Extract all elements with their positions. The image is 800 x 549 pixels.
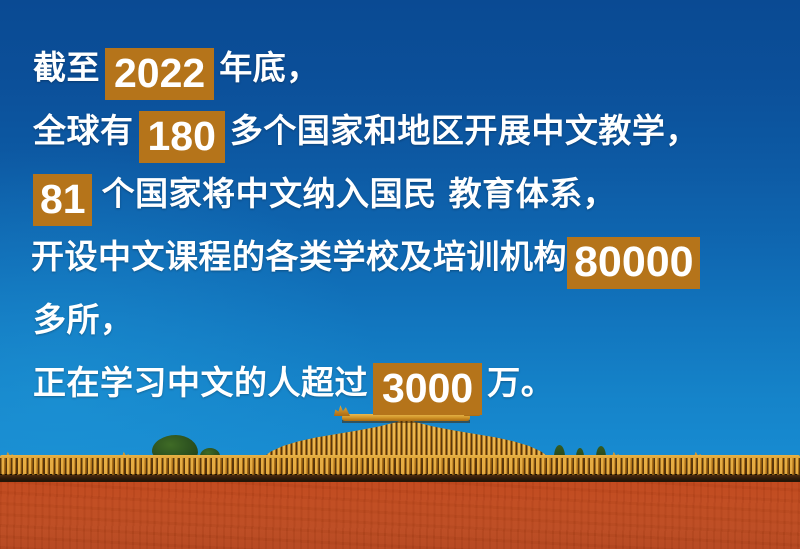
- line2-suffix-text: 多个国家和地区开展中文教学，: [230, 111, 699, 150]
- infographic-poster: 截至2022年底， 全球有180多个国家和地区开展中文教学， 81个国家将中文纳…: [0, 0, 800, 549]
- highlight-countries-180: 180: [139, 111, 225, 163]
- statistic-line-5: 多所，: [33, 288, 800, 351]
- red-palace-wall: [0, 482, 800, 549]
- highlight-learners-3000: 3000: [373, 363, 482, 415]
- statistic-line-4: 开设中文课程的各类学校及培训机构80000: [31, 225, 800, 288]
- statistic-line-1: 截至2022年底，: [33, 36, 800, 99]
- highlight-countries-81: 81: [33, 174, 92, 226]
- line2-prefix-text: 全球有: [33, 111, 134, 150]
- wall-texture: [0, 482, 800, 549]
- highlight-institutions-80000: 80000: [567, 237, 700, 289]
- line6-suffix-text: 万。: [487, 363, 554, 402]
- statistic-line-6: 正在学习中文的人超过3000万。: [33, 351, 800, 414]
- statistics-text-block: 截至2022年底， 全球有180多个国家和地区开展中文教学， 81个国家将中文纳…: [0, 0, 800, 414]
- line1-prefix-text: 截至: [33, 48, 100, 87]
- line3-suffix-text: 个国家将中文纳入国民 教育体系，: [102, 174, 617, 213]
- statistic-line-3: 81个国家将中文纳入国民 教育体系，: [33, 162, 800, 225]
- statistic-line-2: 全球有180多个国家和地区开展中文教学，: [33, 99, 800, 162]
- line6-prefix-text: 正在学习中文的人超过: [33, 363, 368, 402]
- line5-text: 多所，: [33, 300, 134, 339]
- pavilion-ridge: [342, 414, 470, 421]
- line4-prefix-text: 开设中文课程的各类学校及培训机构: [31, 237, 567, 276]
- line1-suffix-text: 年底，: [219, 48, 320, 87]
- highlight-year-2022: 2022: [105, 48, 214, 100]
